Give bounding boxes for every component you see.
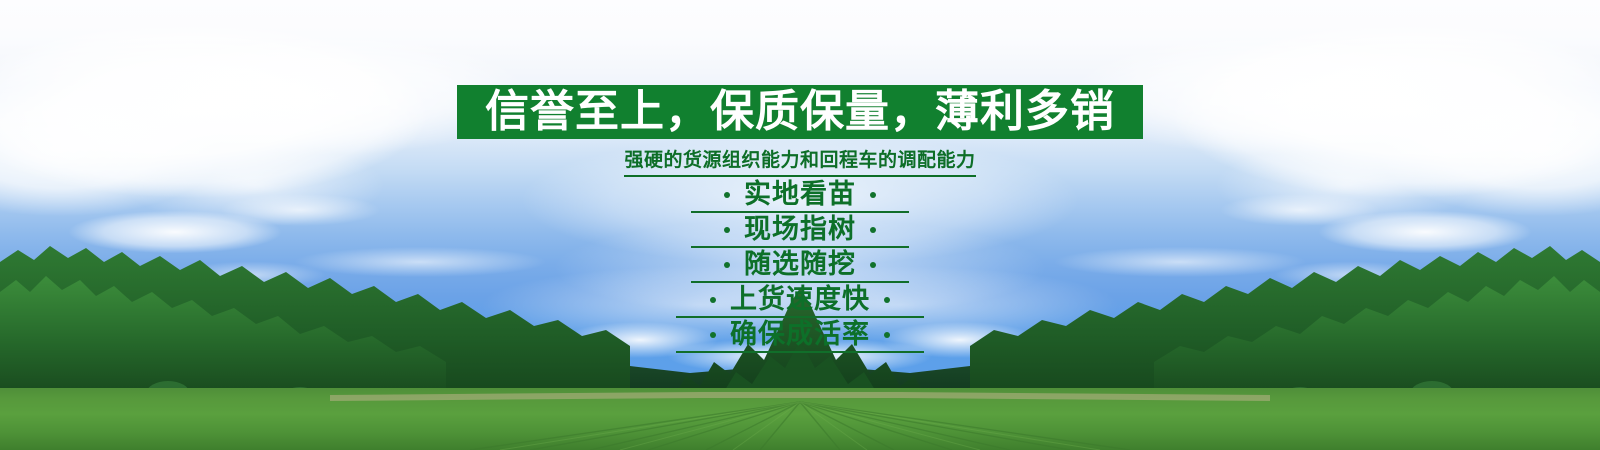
bullet-dot-icon — [870, 192, 876, 198]
headline-banner: 信誉至上，保质保量，薄利多销 — [457, 85, 1143, 139]
feature-item: 上货速度快 — [676, 283, 924, 318]
headline-text: 信誉至上，保质保量，薄利多销 — [485, 90, 1115, 134]
promotional-banner: 信誉至上，保质保量，薄利多销 强硬的货源组织能力和回程车的调配能力 实地看苗 现… — [0, 0, 1600, 450]
feature-label: 上货速度快 — [716, 286, 884, 313]
feature-item: 实地看苗 — [691, 178, 909, 213]
banner-text-content: 信誉至上，保质保量，薄利多销 强硬的货源组织能力和回程车的调配能力 实地看苗 现… — [0, 0, 1600, 450]
bullet-dot-icon — [884, 332, 890, 338]
feature-label: 现场指树 — [730, 216, 870, 243]
subtitle-text: 强硬的货源组织能力和回程车的调配能力 — [624, 145, 975, 177]
feature-label: 随选随挖 — [730, 251, 870, 278]
feature-label: 确保成活率 — [716, 321, 884, 348]
feature-list: 实地看苗 现场指树 随选随挖 上货速度快 确保成活率 — [0, 178, 1600, 353]
bullet-dot-icon — [884, 297, 890, 303]
feature-item: 现场指树 — [691, 213, 909, 248]
feature-item: 确保成活率 — [676, 318, 924, 353]
subtitle: 强硬的货源组织能力和回程车的调配能力 — [0, 145, 1600, 177]
bullet-dot-icon — [870, 262, 876, 268]
feature-item: 随选随挖 — [691, 248, 909, 283]
feature-label: 实地看苗 — [730, 181, 870, 208]
bullet-dot-icon — [870, 227, 876, 233]
